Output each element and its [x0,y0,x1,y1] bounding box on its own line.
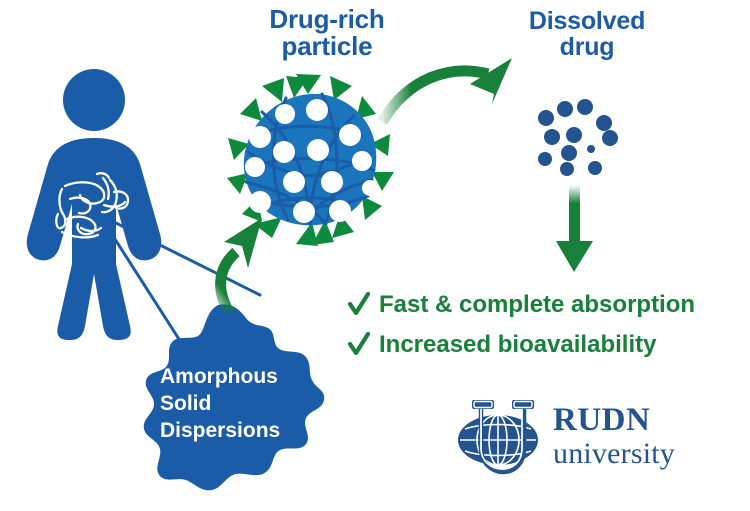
arrow-particle-to-dissolved [378,48,528,148]
label-dissolved-drug: Dissolved drug [487,8,687,61]
rudn-wordmark: RUDN university [553,404,675,469]
human-head [63,69,125,131]
check-icon [348,332,370,358]
benefit-item: Fast & complete absorption [348,291,695,319]
dissolved-drug-dots [525,95,645,180]
rudn-subtitle: university [553,439,675,469]
arrow-asd-to-particle [196,212,291,317]
benefit-item: Increased bioavailability [348,331,656,359]
check-icon [348,292,370,318]
benefit-label: Fast & complete absorption [379,291,695,319]
label-drug-rich-particle: Drug-rich particle [232,6,422,61]
graphical-abstract: Amorphous Solid Dispersions [0,0,750,511]
asd-label: Amorphous Solid Dispersions [160,364,280,445]
rudn-emblem-icon [452,392,544,484]
arrow-dissolved-to-benefits [552,186,612,274]
benefit-label: Increased bioavailability [379,331,656,359]
rudn-name: RUDN [553,404,675,437]
